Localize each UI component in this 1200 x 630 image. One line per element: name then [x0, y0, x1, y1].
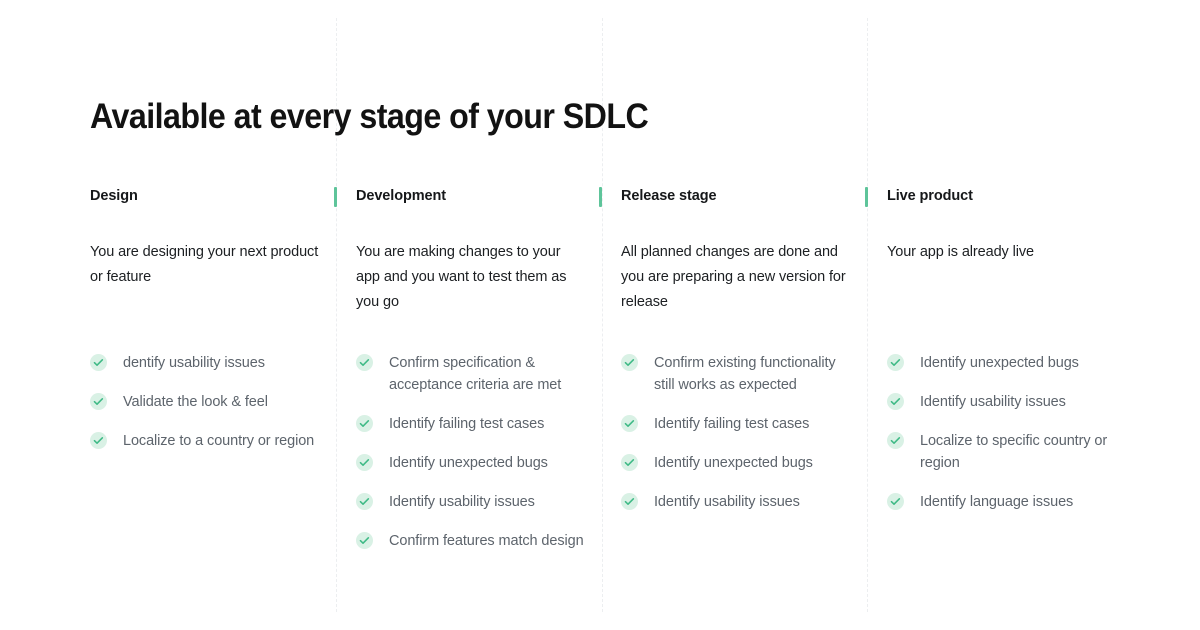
- stage-description-release: All planned changes are done and you are…: [621, 240, 856, 315]
- stage-heading-design: Design: [90, 186, 320, 206]
- list-item-label: Identify failing test cases: [654, 416, 809, 432]
- list-item-label: Identify unexpected bugs: [389, 455, 548, 471]
- list-item-label: Identify usability issues: [920, 394, 1066, 410]
- accent-bar-release: [599, 187, 602, 207]
- list-item: Identify unexpected bugs: [887, 352, 1122, 374]
- stage-heading-live-product: Live product: [887, 186, 1122, 206]
- list-item: Confirm features match design: [356, 530, 586, 552]
- check-circle-icon: [621, 493, 638, 510]
- check-circle-icon: [356, 532, 373, 549]
- check-circle-icon: [356, 415, 373, 432]
- list-item-label: Validate the look & feel: [123, 394, 268, 410]
- list-item: Localize to specific country or region: [887, 430, 1122, 474]
- check-circle-icon: [90, 432, 107, 449]
- stage-description-live-product: Your app is already live: [887, 240, 1122, 265]
- stage-heading-release: Release stage: [621, 186, 856, 206]
- stage-checklist-live-product: Identify unexpected bugs Identify usabil…: [887, 352, 1122, 513]
- check-circle-icon: [887, 354, 904, 371]
- list-item: Localize to a country or region: [90, 430, 320, 452]
- check-circle-icon: [356, 493, 373, 510]
- column-divider-3: [867, 18, 869, 612]
- sdlc-stages-infographic: Available at every stage of your SDLC De…: [0, 0, 1200, 630]
- stage-checklist-design: dentify usability issues Validate the lo…: [90, 352, 320, 452]
- stage-column-release: Release stage All planned changes are do…: [621, 186, 856, 315]
- stage-heading-wrap-design: Design: [90, 186, 320, 206]
- stage-column-live-product: Live product Your app is already live Id…: [887, 186, 1122, 265]
- stage-description-design: You are designing your next product or f…: [90, 240, 320, 290]
- list-item: Identify failing test cases: [356, 413, 586, 435]
- accent-bar-live-product: [865, 187, 868, 207]
- list-item-label: Confirm existing functionality still wor…: [654, 355, 836, 393]
- list-item-label: Identify usability issues: [654, 494, 800, 510]
- list-item: Identify failing test cases: [621, 413, 856, 435]
- list-item-label: Localize to specific country or region: [920, 433, 1107, 471]
- stage-column-development: Development You are making changes to yo…: [356, 186, 586, 315]
- stage-heading-wrap-live-product: Live product: [887, 186, 1122, 206]
- list-item: Identify usability issues: [887, 391, 1122, 413]
- list-item-label: Confirm features match design: [389, 533, 584, 549]
- list-item-label: Confirm specification & acceptance crite…: [389, 355, 561, 393]
- check-circle-icon: [90, 354, 107, 371]
- check-circle-icon: [887, 493, 904, 510]
- list-item: Identify usability issues: [621, 491, 856, 513]
- list-item-label: Identify failing test cases: [389, 416, 544, 432]
- accent-bar-development: [334, 187, 337, 207]
- stage-heading-wrap-release: Release stage: [621, 186, 856, 206]
- list-item-label: dentify usability issues: [123, 355, 265, 371]
- stage-description-development: You are making changes to your app and y…: [356, 240, 586, 315]
- list-item-label: Identify unexpected bugs: [654, 455, 813, 471]
- check-circle-icon: [621, 415, 638, 432]
- check-circle-icon: [356, 454, 373, 471]
- list-item: dentify usability issues: [90, 352, 320, 374]
- check-circle-icon: [621, 454, 638, 471]
- check-circle-icon: [887, 393, 904, 410]
- list-item-label: Identify unexpected bugs: [920, 355, 1079, 371]
- page-title: Available at every stage of your SDLC: [90, 95, 648, 139]
- check-circle-icon: [90, 393, 107, 410]
- list-item-label: Identify language issues: [920, 494, 1073, 510]
- stage-checklist-release: Confirm existing functionality still wor…: [621, 352, 856, 513]
- list-item: Identify unexpected bugs: [356, 452, 586, 474]
- list-item: Confirm specification & acceptance crite…: [356, 352, 586, 396]
- check-circle-icon: [356, 354, 373, 371]
- list-item: Confirm existing functionality still wor…: [621, 352, 856, 396]
- list-item: Identify unexpected bugs: [621, 452, 856, 474]
- list-item: Identify language issues: [887, 491, 1122, 513]
- list-item-label: Identify usability issues: [389, 494, 535, 510]
- stage-column-design: Design You are designing your next produ…: [90, 186, 320, 290]
- stage-heading-wrap-development: Development: [356, 186, 586, 206]
- list-item: Identify usability issues: [356, 491, 586, 513]
- stage-checklist-development: Confirm specification & acceptance crite…: [356, 352, 586, 552]
- list-item: Validate the look & feel: [90, 391, 320, 413]
- check-circle-icon: [887, 432, 904, 449]
- list-item-label: Localize to a country or region: [123, 433, 314, 449]
- stage-heading-development: Development: [356, 186, 586, 206]
- check-circle-icon: [621, 354, 638, 371]
